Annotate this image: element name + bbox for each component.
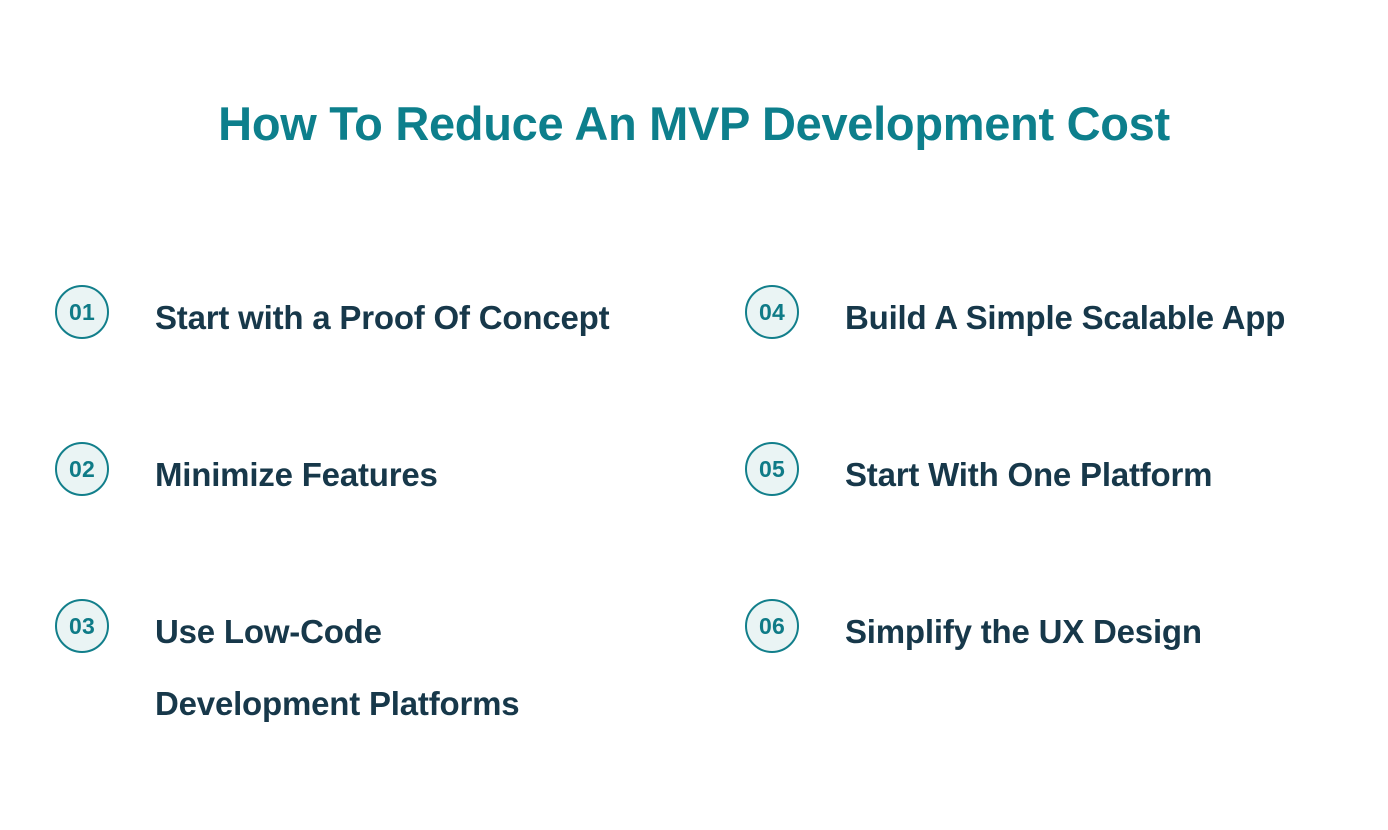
steps-column-right: 04 Build A Simple Scalable App 05 Start … <box>745 270 1345 741</box>
page-title: How To Reduce An MVP Development Cost <box>0 96 1388 151</box>
step-label-05: Start With One Platform <box>845 439 1212 511</box>
list-item: 05 Start With One Platform <box>745 427 1345 584</box>
step-label-06: Simplify the UX Design <box>845 596 1202 668</box>
list-item: 04 Build A Simple Scalable App <box>745 270 1345 427</box>
step-label-02: Minimize Features <box>155 439 438 511</box>
step-number-badge-04: 04 <box>745 285 799 339</box>
list-item: 01 Start with a Proof Of Concept <box>55 270 695 427</box>
step-label-01: Start with a Proof Of Concept <box>155 282 609 354</box>
step-number-badge-06: 06 <box>745 599 799 653</box>
step-number-badge-05: 05 <box>745 442 799 496</box>
step-number-badge-02: 02 <box>55 442 109 496</box>
steps-column-left: 01 Start with a Proof Of Concept 02 Mini… <box>55 270 695 741</box>
infographic-canvas: How To Reduce An MVP Development Cost 01… <box>0 0 1388 830</box>
step-label-03: Use Low-Code Development Platforms <box>155 596 519 740</box>
step-label-04: Build A Simple Scalable App <box>845 282 1285 354</box>
step-number-badge-01: 01 <box>55 285 109 339</box>
step-number-badge-03: 03 <box>55 599 109 653</box>
list-item: 06 Simplify the UX Design <box>745 584 1345 741</box>
list-item: 02 Minimize Features <box>55 427 695 584</box>
list-item: 03 Use Low-Code Development Platforms <box>55 584 695 741</box>
